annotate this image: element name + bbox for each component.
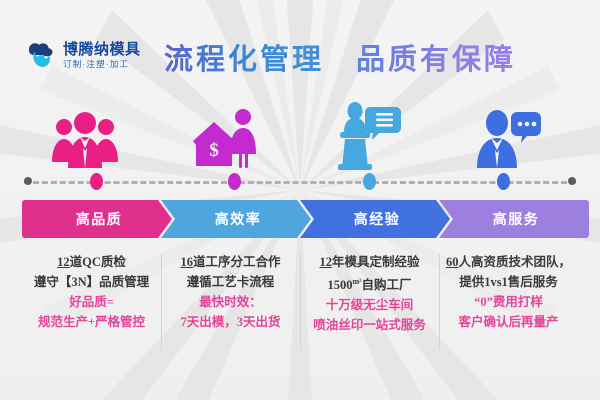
feature-number: 12 xyxy=(319,255,332,269)
factory-area-unit: m² xyxy=(352,277,361,286)
feature-line-1-rest: 人高资质技术团队， xyxy=(458,255,571,269)
feature-line-4: 客户确认后再量产 xyxy=(442,312,575,332)
house-money-person-icon: $ xyxy=(170,100,280,170)
feature-line-2-rest: 自购工厂 xyxy=(362,278,412,292)
feature-line-4: 7天出模，3天出货 xyxy=(164,312,297,332)
person-chat-bubble-icon xyxy=(452,100,562,170)
person-podium-speech-icon xyxy=(310,100,420,170)
feature-line-1: 12年模具定制经验 xyxy=(303,252,436,272)
feature-line-1: 12道QC质检 xyxy=(25,252,158,272)
timeline-end-cap-left xyxy=(24,177,32,185)
feature-line-3: 好品质= xyxy=(25,292,158,312)
feature-line-1: 16道工序分工合作 xyxy=(164,252,297,272)
feature-line-3: 十万级无尘车间 xyxy=(303,295,436,315)
feature-line-1-rest: 年模具定制经验 xyxy=(332,255,420,269)
logo-company-name: 博腾纳模具 xyxy=(63,42,141,57)
timeline-end-cap-right xyxy=(568,177,576,185)
feature-line-2: 遵循工艺卡流程 xyxy=(164,272,297,292)
chevron-bar: 高品质 高效率 高经验 高服务 xyxy=(22,200,578,238)
feature-columns: 12道QC质检 遵守【3N】品质管理 好品质= 规范生产+严格管控 16道工序分… xyxy=(22,252,578,352)
promo-banner: 博腾纳模具 订制·注塑·加工 流程化管理 品质有保障 $ xyxy=(0,0,600,400)
chevron-label: 高服务 xyxy=(489,209,540,229)
timeline xyxy=(0,173,600,191)
feature-line-2: 1500m²自购工厂 xyxy=(303,272,436,295)
chevron-label: 高经验 xyxy=(350,209,401,229)
chevron-gao-pin-zhi[interactable]: 高品质 xyxy=(22,200,172,238)
feature-line-3: 最快时效： xyxy=(164,292,297,312)
feature-line-1-rest: 道工序分工合作 xyxy=(193,255,281,269)
timeline-dot-2 xyxy=(228,173,241,190)
chevron-label: 高品质 xyxy=(72,209,123,229)
feature-line-1: 60人高资质技术团队， xyxy=(442,252,575,272)
feature-line-2: 遵守【3N】品质管理 xyxy=(25,272,158,292)
chevron-label: 高效率 xyxy=(211,209,262,229)
feature-line-2: 提供1vs1售后服务 xyxy=(442,272,575,292)
feature-line-1-rest: 道QC质检 xyxy=(70,255,126,269)
header: 博腾纳模具 订制·注塑·加工 流程化管理 品质有保障 xyxy=(0,0,600,100)
chevron-gao-jing-yan[interactable]: 高经验 xyxy=(300,200,450,238)
feature-line-4: 规范生产+严格管控 xyxy=(25,312,158,332)
feature-number: 60 xyxy=(446,255,459,269)
timeline-dot-4 xyxy=(497,173,510,190)
timeline-dashed-line xyxy=(24,181,576,184)
company-logo[interactable]: 博腾纳模具 订制·注塑·加工 xyxy=(24,38,141,72)
feature-column-2: 16道工序分工合作 遵循工艺卡流程 最快时效： 7天出模，3天出货 xyxy=(161,252,300,352)
feature-number: 16 xyxy=(180,255,193,269)
feature-number: 12 xyxy=(57,255,70,269)
boteng-droplet-logo-icon xyxy=(24,38,58,72)
group-of-people-icon xyxy=(30,100,140,170)
feature-column-4: 60人高资质技术团队， 提供1vs1售后服务 “0”费用打样 客户确认后再量产 xyxy=(439,252,578,352)
icon-row: $ xyxy=(0,100,600,170)
logo-tagline: 订制·注塑·加工 xyxy=(63,60,141,69)
timeline-dot-1 xyxy=(90,173,103,190)
feature-line-3: “0”费用打样 xyxy=(442,292,575,312)
feature-column-3: 12年模具定制经验 1500m²自购工厂 十万级无尘车间 喷油丝印一站式服务 xyxy=(300,252,439,352)
factory-area-value: 1500 xyxy=(327,278,352,292)
chevron-gao-fu-wu[interactable]: 高服务 xyxy=(439,200,589,238)
page-title: 流程化管理 品质有保障 xyxy=(164,36,516,78)
feature-column-1: 12道QC质检 遵守【3N】品质管理 好品质= 规范生产+严格管控 xyxy=(22,252,161,352)
svg-text:$: $ xyxy=(209,140,219,161)
timeline-dot-3 xyxy=(363,173,376,190)
chevron-gao-xiao-lv[interactable]: 高效率 xyxy=(161,200,311,238)
feature-line-4: 喷油丝印一站式服务 xyxy=(303,315,436,335)
